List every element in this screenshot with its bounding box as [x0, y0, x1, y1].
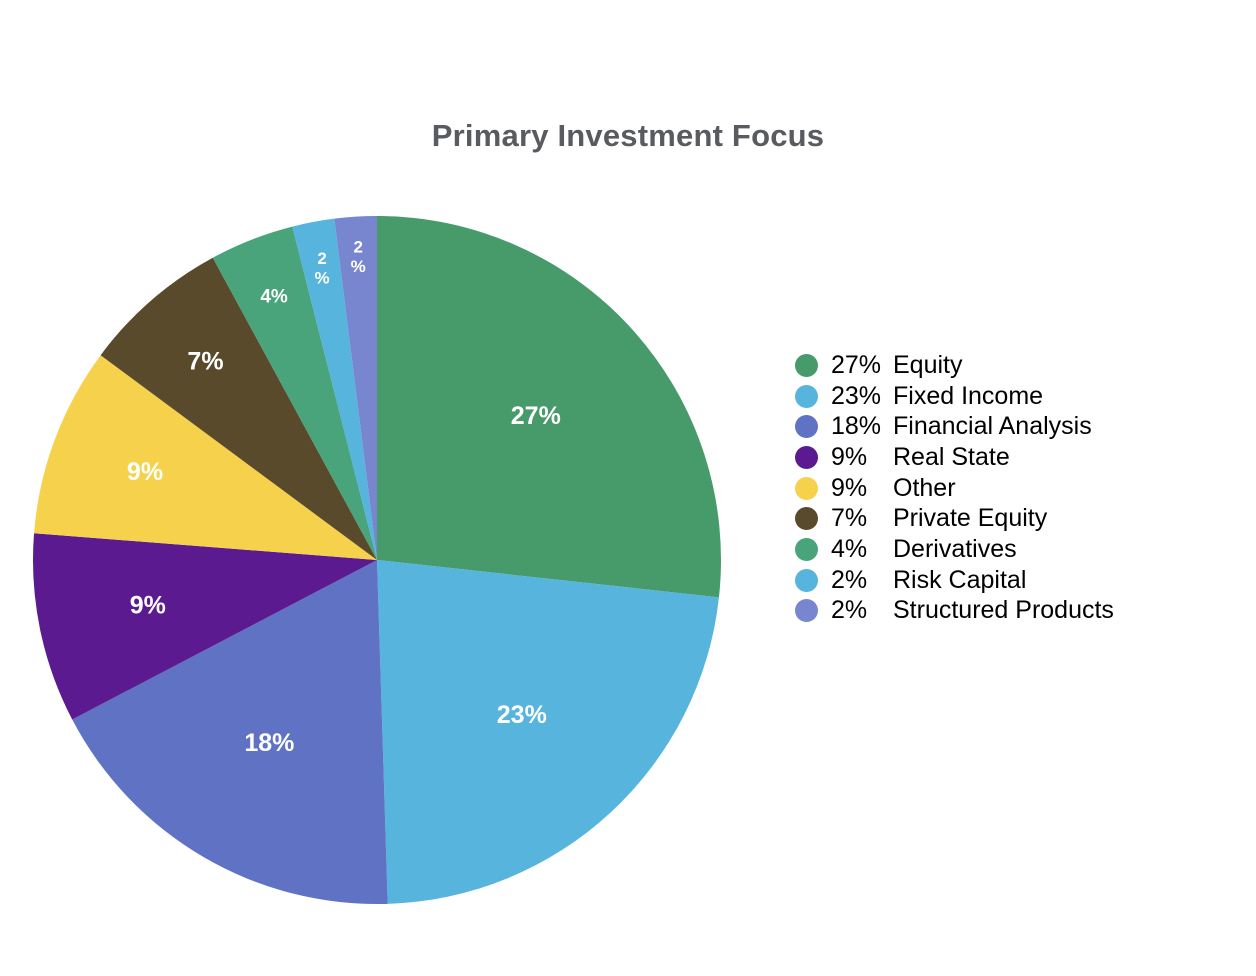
legend-item-percent: 9%	[831, 476, 893, 501]
legend-item[interactable]: 27%Equity	[795, 350, 1215, 381]
legend-item[interactable]: 2%Risk Capital	[795, 565, 1215, 596]
legend-item-percent: 4%	[831, 537, 893, 562]
pie-slice-label: 7%	[187, 347, 223, 375]
pie-slice-label: 18%	[244, 729, 294, 757]
pie-slice-label: 9%	[130, 592, 166, 620]
legend-item[interactable]: 9%Real State	[795, 442, 1215, 473]
legend-item[interactable]: 18%Financial Analysis	[795, 411, 1215, 442]
legend-color-swatch-icon	[795, 354, 818, 377]
pie-plot-area: 27%23%18%9%9%7%4%2%2%	[32, 215, 722, 905]
chart-legend: 27%Equity23%Fixed Income18%Financial Ana…	[795, 350, 1215, 626]
legend-item[interactable]: 7%Private Equity	[795, 503, 1215, 534]
legend-color-swatch-icon	[795, 385, 818, 408]
pie-slice-label: 27%	[511, 402, 561, 430]
pie-slice-label: 23%	[497, 701, 547, 729]
pie-chart-figure: Primary Investment Focus 27%23%18%9%9%7%…	[0, 0, 1256, 976]
pie-slices-group	[33, 216, 721, 904]
legend-item-label: Risk Capital	[893, 568, 1026, 593]
legend-item[interactable]: 23%Fixed Income	[795, 381, 1215, 412]
legend-color-swatch-icon	[795, 569, 818, 592]
pie-slice-label: 4%	[260, 286, 288, 307]
legend-item-percent: 18%	[831, 414, 893, 439]
legend-color-swatch-icon	[795, 507, 818, 530]
legend-item-label: Structured Products	[893, 598, 1114, 623]
pie-slice-label: 9%	[127, 458, 163, 486]
legend-color-swatch-icon	[795, 538, 818, 561]
chart-title: Primary Investment Focus	[0, 118, 1256, 154]
legend-item-percent: 23%	[831, 384, 893, 409]
legend-item-label: Fixed Income	[893, 384, 1043, 409]
legend-item-label: Equity	[893, 353, 962, 378]
pie-svg: 27%23%18%9%9%7%4%2%2%	[32, 215, 722, 905]
legend-color-swatch-icon	[795, 477, 818, 500]
legend-item[interactable]: 4%Derivatives	[795, 534, 1215, 565]
legend-item-percent: 9%	[831, 445, 893, 470]
legend-item-label: Private Equity	[893, 506, 1047, 531]
legend-item[interactable]: 9%Other	[795, 473, 1215, 504]
pie-slice[interactable]	[377, 560, 719, 904]
legend-item-label: Other	[893, 476, 956, 501]
legend-item-label: Financial Analysis	[893, 414, 1092, 439]
legend-item-label: Derivatives	[893, 537, 1017, 562]
legend-item-percent: 2%	[831, 568, 893, 593]
legend-color-swatch-icon	[795, 599, 818, 622]
legend-item-percent: 7%	[831, 506, 893, 531]
legend-item[interactable]: 2%Structured Products	[795, 596, 1215, 627]
legend-item-percent: 2%	[831, 598, 893, 623]
legend-item-label: Real State	[893, 445, 1010, 470]
legend-color-swatch-icon	[795, 415, 818, 438]
legend-color-swatch-icon	[795, 446, 818, 469]
legend-item-percent: 27%	[831, 353, 893, 378]
